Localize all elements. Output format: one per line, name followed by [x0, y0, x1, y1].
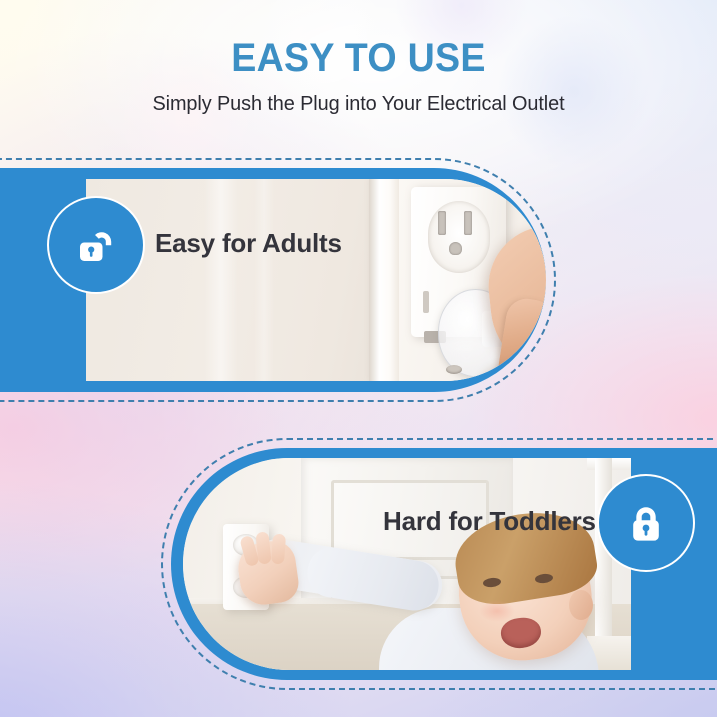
header: EASY TO USE Simply Push the Plug into Yo… [0, 0, 717, 116]
outlet-slot [438, 211, 446, 235]
panel-label-easy-for-adults: Easy for Adults [155, 230, 342, 256]
toddler-cheek [479, 600, 515, 622]
page-title: EASY TO USE [22, 0, 696, 78]
outlet-slot [464, 211, 472, 235]
photo-toddler-reaching-outlet [183, 458, 631, 670]
page-subtitle: Simply Push the Plug into Your Electrica… [11, 78, 706, 116]
photo-adult-inserting-plug [86, 179, 546, 381]
locked-padlock-icon [597, 474, 695, 572]
toddler-finger [271, 534, 286, 565]
photo-light-streak [204, 179, 238, 381]
toddler-ear [569, 590, 593, 620]
outlet-faceplate-screw [446, 365, 462, 374]
photo-light-streak [254, 179, 274, 381]
unlocked-padlock-icon [47, 196, 145, 294]
outlet-slot-lower [423, 291, 429, 313]
outlet-ground-slot [449, 242, 462, 255]
panel-label-hard-for-toddlers: Hard for Toddlers [383, 508, 596, 534]
photo-wall-corner [369, 179, 399, 381]
